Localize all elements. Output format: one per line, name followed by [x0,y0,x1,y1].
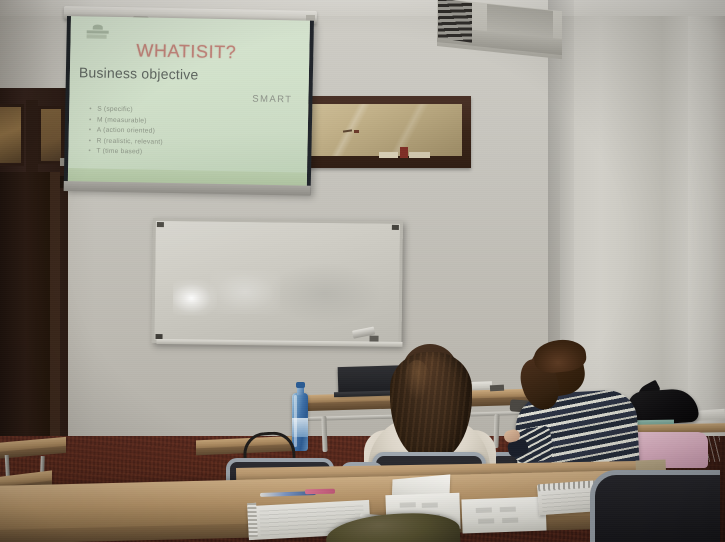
slide-title: WHATISIT? [136,40,301,64]
window-mark-2 [354,130,359,133]
notebook-spiral-left [247,503,258,537]
door-window-pane-right [38,106,64,164]
slide-bullet-list: •S (specific) •M (measurable) •A (action… [88,104,163,158]
door-panel[interactable] [0,172,50,470]
ac-grille-icon [438,0,472,43]
paper-sheet-right[interactable] [461,497,546,534]
door-window-pane-left [0,104,24,166]
student-1-hair-strands [390,352,472,460]
window-sill-red-object [400,147,408,158]
slide-corner-label: SMART [252,94,292,106]
whiteboard-smudge [270,262,381,323]
door-mullion [26,100,38,172]
list-item: •T (time based) [88,147,162,159]
student-1-hair-highlight [404,360,430,400]
whiteboard-glare [173,279,217,316]
bottle-cap [296,382,305,388]
whiteboard-glare-soft [210,270,281,315]
door-edge-stripe [50,172,60,470]
pen-pink[interactable] [305,489,335,495]
whiteboard-corner-top-right [392,225,399,230]
slide-subtitle: Business objective [79,64,199,82]
whiteboard-corner-top-left [157,222,164,227]
projection-screen[interactable]: WHATISIT? Business objective SMART •S (s… [64,16,314,195]
desk-object-dark [490,385,504,392]
presentation-slide: WHATISIT? Business objective SMART •S (s… [68,16,310,179]
window-sill-object-left [379,152,398,158]
window-reflection [307,104,462,156]
university-logo-icon [85,24,111,40]
window-sill-object-right [409,152,430,158]
classroom-photo: WHATISIT? Business objective SMART •S (s… [0,0,725,542]
whiteboard[interactable] [151,218,403,346]
chair-foreground-right[interactable] [590,470,720,542]
bottle-highlight [294,395,297,447]
